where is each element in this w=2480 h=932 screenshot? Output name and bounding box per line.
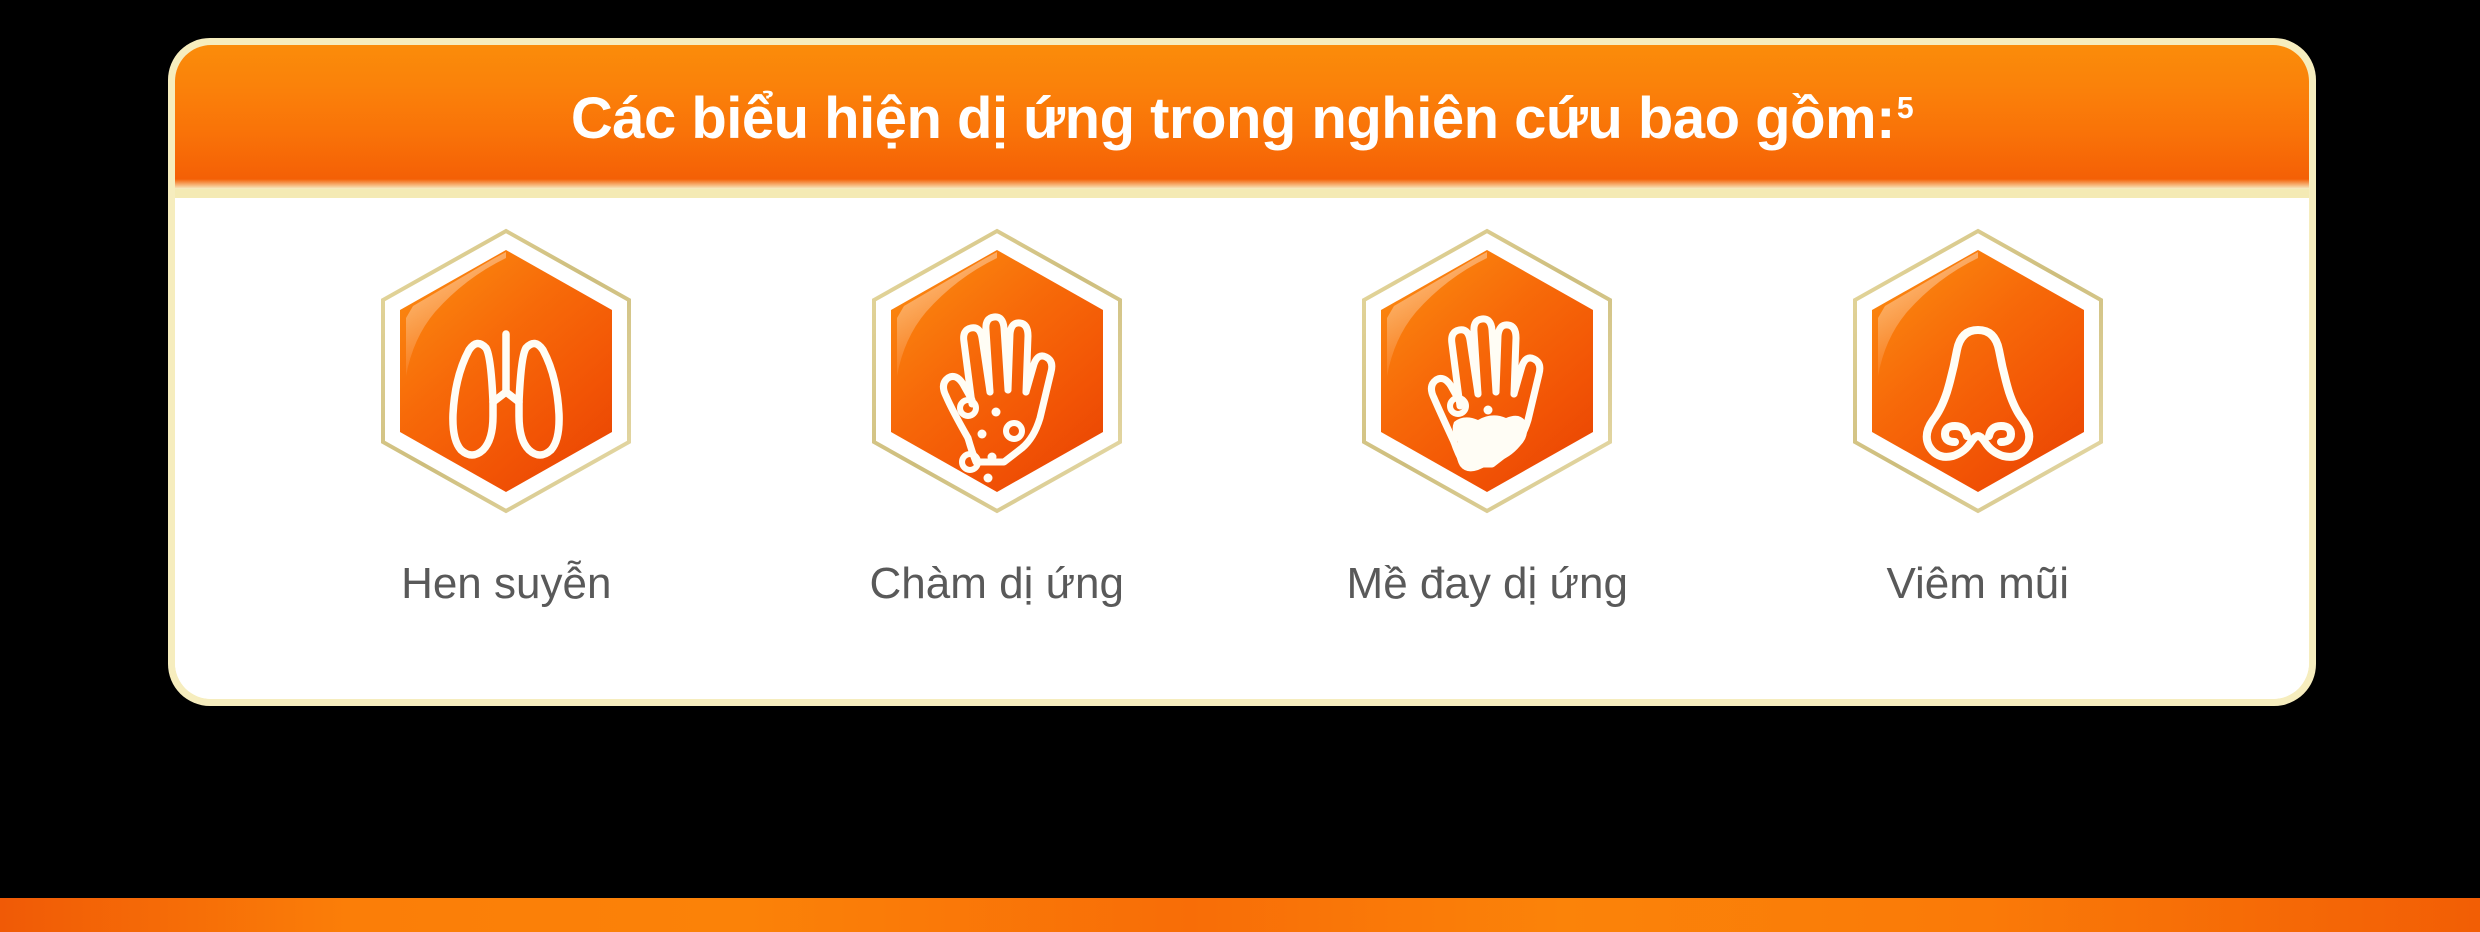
page-title: Các biểu hiện dị ứng trong nghiên cứu ba… bbox=[571, 90, 1913, 148]
list-item[interactable]: Viêm mũi bbox=[1768, 226, 2188, 608]
slide-canvas: Các biểu hiện dị ứng trong nghiên cứu ba… bbox=[0, 0, 2480, 932]
list-item-label: Mề đay dị ứng bbox=[1347, 560, 1628, 608]
page-title-superscript: 5 bbox=[1897, 92, 1913, 125]
list-item[interactable]: Hen suyễn bbox=[296, 226, 716, 608]
hex-badge bbox=[864, 226, 1130, 516]
icon-grid: Hen suyễn bbox=[175, 198, 2309, 699]
hex-badge bbox=[1354, 226, 1620, 516]
card-inner: Các biểu hiện dị ứng trong nghiên cứu ba… bbox=[175, 45, 2309, 699]
list-item[interactable]: Mề đay dị ứng bbox=[1277, 226, 1697, 608]
allergy-manifestations-card: Các biểu hiện dị ứng trong nghiên cứu ba… bbox=[168, 38, 2316, 706]
bottom-accent-strip bbox=[0, 898, 2480, 932]
hex-badge bbox=[1845, 226, 2111, 516]
list-item-label: Viêm mũi bbox=[1886, 560, 2069, 608]
list-item-label: Hen suyễn bbox=[401, 560, 611, 608]
hex-badge bbox=[373, 226, 639, 516]
card-header: Các biểu hiện dị ứng trong nghiên cứu ba… bbox=[175, 45, 2309, 198]
page-title-text: Các biểu hiện dị ứng trong nghiên cứu ba… bbox=[571, 86, 1895, 151]
list-item-label: Chàm dị ứng bbox=[870, 560, 1124, 608]
list-item[interactable]: Chàm dị ứng bbox=[787, 226, 1207, 608]
